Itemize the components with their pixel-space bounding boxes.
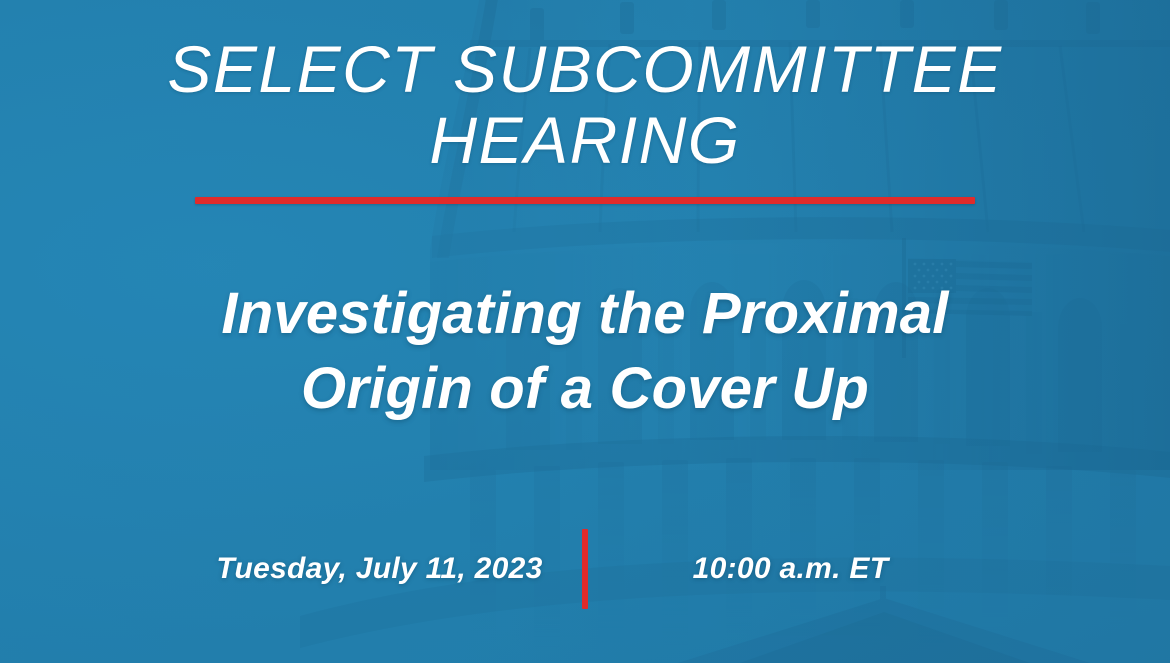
hearing-date: Tuesday, July 11, 2023: [177, 552, 582, 586]
hearing-announcement-slide: SELECT SUBCOMMITTEE HEARING Investigatin…: [0, 0, 1170, 663]
title-line-1: SELECT SUBCOMMITTEE: [80, 34, 1090, 105]
subtitle-line-1: Investigating the Proximal: [70, 276, 1100, 351]
red-divider-rule: [195, 197, 975, 204]
subtitle-line-2: Origin of a Cover Up: [70, 351, 1100, 426]
hearing-title: SELECT SUBCOMMITTEE HEARING: [80, 34, 1090, 177]
hearing-time: 10:00 a.m. ET: [588, 552, 993, 586]
slide-content: SELECT SUBCOMMITTEE HEARING Investigatin…: [0, 0, 1170, 663]
title-line-2: HEARING: [80, 105, 1090, 176]
hearing-subtitle: Investigating the Proximal Origin of a C…: [70, 276, 1100, 427]
hearing-footer: Tuesday, July 11, 2023 10:00 a.m. ET: [0, 528, 1170, 610]
